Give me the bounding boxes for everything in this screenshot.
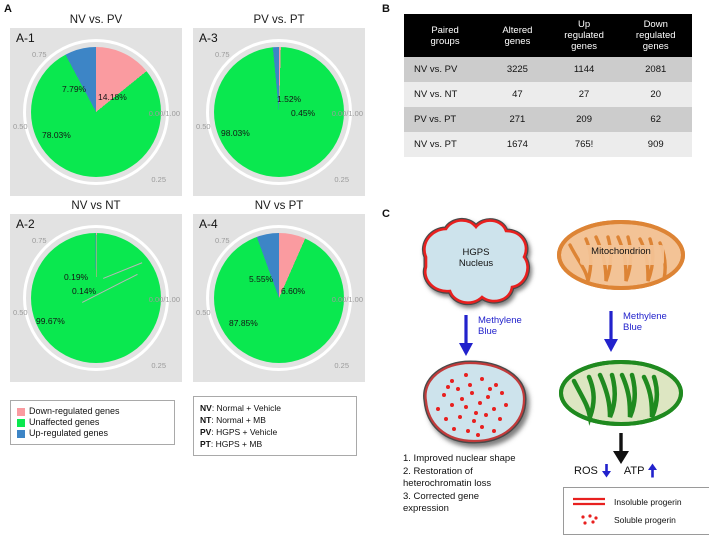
mb-right-line2: Blue [623,322,667,333]
table-row: NV vs. PV 3225 1144 2081 [404,57,692,82]
th-line-1: Paired [406,25,484,36]
progerin-legend-label-insoluble: Insoluble progerin [614,497,682,507]
methylene-blue-arrow-right-icon [601,311,621,353]
abbr-row-pv: PV: HGPS + Vehicle [200,426,350,438]
red-line-marker-icon [572,496,606,508]
legend-swatch-unaffected-icon [17,419,25,427]
th-line-1: Altered [488,25,547,36]
progerin-legend-item-insoluble: Insoluble progerin [568,493,708,511]
hgps-nucleus-label: HGPS Nucleus [406,247,546,269]
abbr-text-nt: : Normal + MB [211,415,266,425]
pie-title-a2: NV vs NT [10,200,182,212]
pie-label-a3-up: 1.52% [277,94,301,104]
pie-title-a3: PV vs. PT [193,14,365,26]
cell-down: 62 [619,107,692,132]
pie-label-a2-unaffected: 99.67% [36,316,65,326]
table-header-altered-genes: Altered genes [486,14,549,57]
ros-atp-row: ROS ATP [574,463,658,478]
methylene-blue-label-right: Methylene Blue [623,311,667,333]
atp-label: ATP [624,465,645,477]
cell-paired-group: PV vs. PT [404,107,486,132]
outcome-item-3: 3. Corrected gene [403,491,515,504]
abbr-text-pt: : HGPS + MB [211,439,262,449]
outcome-item-2: 2. Restoration of [403,466,515,479]
pie-label-a1-unaffected: 78.03% [42,130,71,140]
panel-letter-c: C [382,208,390,220]
pie-slices-a4 [214,233,344,363]
abbr-row-nv: NV: Normal + Vehicle [200,402,350,414]
atp-up-arrow-icon [647,463,658,478]
panel-a-pie-charts: A NV vs. PV A-1 0.00/1.00 0.25 0.50 0.75… [0,0,374,540]
legend-swatch-up-icon [17,430,25,438]
table-header-paired-groups: Paired groups [404,14,486,57]
outcome-arrow-icon [611,433,631,465]
pie-tick-a3-50: 0.50 [196,122,211,131]
outcome-item-3b: expression [403,503,515,516]
pie-label-a1-up: 7.79% [62,84,86,94]
abbr-code-nv: NV [200,403,212,413]
pie-slices-a1 [31,47,161,177]
abbr-code-pt: PT [200,439,211,449]
cell-paired-group: NV vs. PV [404,57,486,82]
red-dots-marker-icon [572,514,606,526]
ros-down-arrow-icon [601,463,612,478]
pie-tag-a4: A-4 [199,217,218,231]
th-line-1: Up [551,19,618,30]
cell-up: 27 [549,82,620,107]
cell-altered: 47 [486,82,549,107]
cell-down: 909 [619,132,692,157]
mitochondrion-green-icon [558,357,684,429]
outcome-item-1: 1. Improved nuclear shape [403,453,515,466]
pie-tag-a2: A-2 [16,217,35,231]
pie-tick-a4-75: 0.75 [215,236,230,245]
abbr-code-nt: NT [200,415,211,425]
abbr-text-nv: : Normal + Vehicle [212,403,281,413]
table-header-down-regulated-genes: Down regulated genes [619,14,692,57]
legend-item-down: Down-regulated genes [17,406,169,417]
abbr-row-pt: PT: HGPS + MB [200,438,350,450]
table-row: PV vs. PT 271 209 62 [404,107,692,132]
mb-left-line2: Blue [478,326,522,337]
pie-label-a1-down: 14.18% [98,92,127,102]
pie-tag-a1: A-1 [16,31,35,45]
pie-label-a4-unaffected: 87.85% [229,318,258,328]
th-line-3: genes [621,41,690,52]
pie-label-a3-unaffected: 98.03% [221,128,250,138]
pie-label-a2-up: 0.14% [72,286,96,296]
abbr-text-pv: : HGPS + Vehicle [211,427,277,437]
pie-tag-a3: A-3 [199,31,218,45]
th-line-2: genes [488,36,547,47]
pie-tick-a1-75: 0.75 [32,50,47,59]
cell-altered: 3225 [486,57,549,82]
cell-down: 2081 [619,57,692,82]
mb-left-line1: Methylene [478,315,522,326]
table-header-row: Paired groups Altered genes Up regulated… [404,14,692,57]
th-line-2: groups [406,36,484,47]
pie-label-a4-down: 6.60% [281,286,305,296]
legend-item-up: Up-regulated genes [17,428,169,439]
abbr-row-nt: NT: Normal + MB [200,414,350,426]
pie-chart-a2: A-2 0.00/1.00 0.25 0.50 0.75 0.19% 99.67… [10,214,182,382]
pie-legend: Down-regulated genes Unaffected genes Up… [10,400,175,445]
hgps-label-line2: Nucleus [406,258,546,269]
cell-up: 209 [549,107,620,132]
th-line-1: Down [621,19,690,30]
legend-label-unaffected: Unaffected genes [29,417,99,428]
pie-tick-a1-25: 0.25 [151,175,166,184]
pie-tick-a3-0: 0.00/1.00 [332,109,363,118]
legend-item-unaffected: Unaffected genes [17,417,169,428]
outcome-list: 1. Improved nuclear shape 2. Restoration… [403,453,515,516]
table-header-up-regulated-genes: Up regulated genes [549,14,620,57]
progerin-legend-item-soluble: Soluble progerin [568,511,708,529]
panel-letter-b: B [382,3,390,15]
legend-swatch-down-icon [17,408,25,416]
pie-chart-a3: A-3 0.00/1.00 0.25 0.50 0.75 0.45% 98.03… [193,28,365,196]
cell-up: 1144 [549,57,620,82]
cell-paired-group: NV vs. NT [404,82,486,107]
panel-c-diagram: C HGPS Nucleus Mitochondrion Methylene B… [378,205,709,540]
gene-counts-table: Paired groups Altered genes Up regulated… [404,14,692,157]
progerin-legend: Insoluble progerin Soluble progerin [563,487,709,535]
pie-chart-a4: A-4 0.00/1.00 0.25 0.50 0.75 6.60% 87.85… [193,214,365,382]
pie-tick-a2-0: 0.00/1.00 [149,295,180,304]
th-line-3: genes [551,41,618,52]
legend-label-down: Down-regulated genes [29,406,120,417]
pie-tick-a1-50: 0.50 [13,122,28,131]
pie-tick-a4-25: 0.25 [334,361,349,370]
cell-down: 20 [619,82,692,107]
pie-tick-a4-0: 0.00/1.00 [332,295,363,304]
pie-label-a3-down: 0.45% [291,108,315,118]
th-line-2: regulated [551,30,618,41]
outcome-item-2b: heterochromatin loss [403,478,515,491]
table-row: NV vs. PT 1674 765! 909 [404,132,692,157]
table-row: NV vs. NT 47 27 20 [404,82,692,107]
pie-chart-a1: A-1 0.00/1.00 0.25 0.50 0.75 14.18% 78.0… [10,28,182,196]
cell-up: 765! [549,132,620,157]
legend-label-up: Up-regulated genes [29,428,108,439]
pie-tick-a2-25: 0.25 [151,361,166,370]
pie-title-a4: NV vs PT [193,200,365,212]
pie-tick-a2-75: 0.75 [32,236,47,245]
ros-label: ROS [574,465,598,477]
cell-paired-group: NV vs. PT [404,132,486,157]
hgps-nucleus-treated-icon [408,355,538,447]
pie-tick-a4-50: 0.50 [196,308,211,317]
panel-b-table: B Paired groups Altered genes Up regulat… [378,0,709,205]
hgps-label-line1: HGPS [406,247,546,258]
pie-slices-a2 [31,233,161,363]
pie-tick-a1-0: 0.00/1.00 [149,109,180,118]
cell-altered: 271 [486,107,549,132]
pie-tick-a2-50: 0.50 [13,308,28,317]
pie-label-a4-up: 5.55% [249,274,273,284]
abbreviation-legend: NV: Normal + Vehicle NT: Normal + MB PV:… [193,396,357,456]
methylene-blue-label-left: Methylene Blue [478,315,522,337]
pie-title-a1: NV vs. PV [10,14,182,26]
pie-slices-a3 [214,47,344,177]
methylene-blue-arrow-left-icon [456,315,476,357]
cell-altered: 1674 [486,132,549,157]
pie-label-a2-down: 0.19% [64,272,88,282]
progerin-legend-label-soluble: Soluble progerin [614,515,676,525]
pie-tick-a3-25: 0.25 [334,175,349,184]
pie-tick-a3-75: 0.75 [215,50,230,59]
th-line-2: regulated [621,30,690,41]
mitochondrion-label: Mitochondrion [556,246,686,257]
abbr-code-pv: PV [200,427,211,437]
mb-right-line1: Methylene [623,311,667,322]
